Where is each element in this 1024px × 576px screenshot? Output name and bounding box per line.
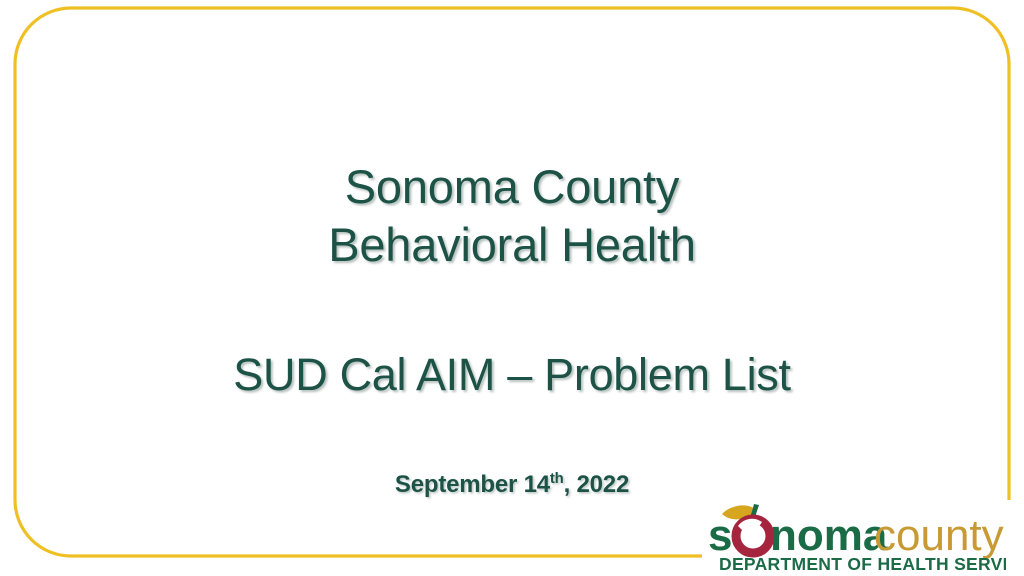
presentation-date: September 14th, 2022 [0, 470, 1024, 500]
logo-word-county: county [874, 511, 1004, 560]
page-subtitle: SUD Cal AIM – Problem List [0, 348, 1024, 402]
date-month-day: September 14 [395, 471, 550, 498]
logo-word-s: s [708, 511, 732, 560]
logo-tagline: DEPARTMENT OF HEALTH SERVICES [719, 554, 1006, 574]
date-year: , 2022 [564, 471, 630, 498]
page-title: Sonoma County Behavioral Health [0, 158, 1024, 274]
title-slide: Sonoma County Behavioral Health SUD Cal … [0, 0, 1024, 576]
sonoma-county-logo: s noma county DEPARTMENT OF HEALTH SERVI… [706, 498, 1006, 576]
logo-word-noma: noma [770, 511, 888, 560]
logo-svg: s noma county DEPARTMENT OF HEALTH SERVI… [706, 498, 1006, 576]
date-ordinal-suffix: th [550, 471, 564, 487]
